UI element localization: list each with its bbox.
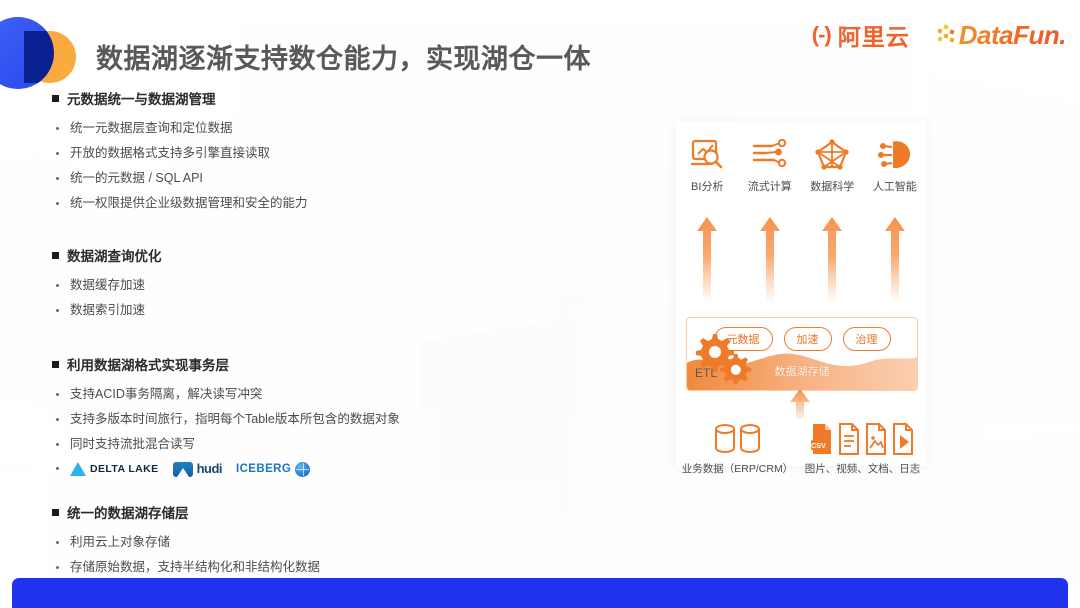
list-item: 数据缓存加速	[56, 274, 522, 296]
list-item: 统一的元数据 / SQL API	[56, 167, 522, 189]
list-item-text: 统一的元数据 / SQL API	[70, 167, 203, 189]
section-heading-text: 统一的数据湖存储层	[67, 502, 189, 522]
dot-bullet-icon	[56, 202, 59, 205]
source-icon-row: 业务数据（ERP/CRM） CSV	[676, 417, 926, 476]
list-item: 开放的数据格式支持多引擎直接读取	[56, 142, 522, 164]
section-heading-text: 数据湖查询优化	[67, 245, 162, 265]
up-arrow-icon	[804, 217, 860, 303]
list-item: 利用云上对象存储	[56, 531, 522, 553]
up-arrow-icon	[867, 217, 923, 303]
list-item: 存储原始数据，支持半结构化和非结构化数据	[56, 556, 522, 578]
section-heading-text: 利用数据湖格式实现事务层	[67, 354, 229, 374]
iceberg-globe-icon	[295, 462, 310, 477]
dot-bullet-icon	[56, 443, 59, 446]
consumer-ai-label: 人工智能	[867, 178, 923, 194]
dot-bullet-icon	[56, 284, 59, 287]
square-bullet-icon	[52, 509, 59, 516]
logo-circle-overlap	[24, 31, 54, 83]
list-item-text: 利用云上对象存储	[70, 531, 170, 553]
list-item: 统一元数据层查询和定位数据	[56, 117, 522, 139]
dot-bullet-icon	[56, 541, 59, 544]
delta-lake-label: DELTA LAKE	[90, 458, 159, 480]
list-item-text: 存储原始数据，支持半结构化和非结构化数据	[70, 556, 320, 578]
consumer-icon-row: BI分析 流式计算	[676, 137, 926, 194]
datafun-dots-icon	[938, 24, 958, 46]
source-unstructured-data: CSV	[805, 417, 921, 476]
csv-file-icon: CSV	[810, 423, 834, 455]
list-item-text: 统一元数据层查询和定位数据	[70, 117, 233, 139]
lake-format-logos: DELTA LAKE hudi ICEBERG	[70, 458, 310, 480]
database-cylinder-icon	[739, 423, 761, 455]
brand-row: (-) 阿里云 DataFun.	[812, 18, 1066, 52]
data-lake-storage-box: 元数据 加速 治理 ETL 数据湖存储	[686, 317, 918, 391]
document-file-icon	[837, 423, 861, 455]
consumer-stream-label: 流式计算	[742, 178, 798, 194]
source-business-data: 业务数据（ERP/CRM）	[682, 417, 793, 476]
consumer-bi: BI分析	[679, 137, 735, 194]
square-bullet-icon	[52, 361, 59, 368]
list-item-text: 统一权限提供企业级数据管理和安全的能力	[70, 192, 308, 214]
list-item: 同时支持流批混合读写	[56, 433, 522, 455]
dot-bullet-icon	[56, 467, 59, 470]
section-heading: 利用数据湖格式实现事务层	[52, 354, 522, 374]
architecture-diagram: BI分析 流式计算	[676, 121, 926, 466]
list-item: 支持ACID事务隔离，解决读写冲突	[56, 383, 522, 405]
list-item: 数据索引加速	[56, 299, 522, 321]
hudi-badge-icon	[173, 462, 193, 477]
hudi-label: hudi	[197, 458, 222, 480]
section-heading: 统一的数据湖存储层	[52, 502, 522, 522]
network-graph-icon	[804, 137, 860, 173]
consumer-datascience: 数据科学	[804, 137, 860, 194]
list-item-text: 支持ACID事务隔离，解决读写冲突	[70, 383, 262, 405]
source-unstructured-data-label: 图片、视频、文档、日志	[805, 461, 921, 476]
delta-lake-logo: DELTA LAKE	[70, 458, 159, 480]
database-cylinder-icon	[714, 423, 736, 455]
page-title: 数据湖逐渐支持数仓能力，实现湖仓一体	[96, 37, 591, 76]
list-item: 支持多版本时间旅行，指明每个Table版本所包含的数据对象	[56, 408, 522, 430]
up-arrow-icon	[679, 217, 735, 303]
aliyun-logo: (-) 阿里云	[812, 18, 910, 52]
up-arrow-icon	[742, 217, 798, 303]
square-bullet-icon	[52, 95, 59, 102]
hudi-logo: hudi	[173, 458, 222, 480]
bi-chart-icon	[679, 137, 735, 173]
section-metadata: 元数据统一与数据湖管理 统一元数据层查询和定位数据 开放的数据格式支持多引擎直接…	[52, 88, 522, 214]
list-item-text: 同时支持流批混合读写	[70, 433, 195, 455]
list-item: 统一权限提供企业级数据管理和安全的能力	[56, 192, 522, 214]
dot-bullet-icon	[56, 177, 59, 180]
list-item-text: 数据缓存加速	[70, 274, 145, 296]
consumer-datascience-label: 数据科学	[804, 178, 860, 194]
iceberg-label: ICEBERG	[236, 458, 291, 480]
ai-brain-icon	[867, 137, 923, 173]
dot-bullet-icon	[56, 418, 59, 421]
aliyun-mark-icon: (-)	[812, 22, 831, 48]
brand-circles-logo	[0, 17, 90, 89]
image-file-icon	[864, 423, 888, 455]
aliyun-label: 阿里云	[838, 18, 910, 52]
list-item-text: 支持多版本时间旅行，指明每个Table版本所包含的数据对象	[70, 408, 400, 430]
source-business-data-label: 业务数据（ERP/CRM）	[682, 461, 793, 476]
lake-storage-label: 数据湖存储	[687, 363, 917, 379]
upward-arrow-row	[676, 217, 926, 307]
square-bullet-icon	[52, 252, 59, 259]
content-column: 元数据统一与数据湖管理 统一元数据层查询和定位数据 开放的数据格式支持多引擎直接…	[52, 88, 522, 581]
dot-bullet-icon	[56, 152, 59, 155]
datafun-label: DataFun.	[959, 20, 1066, 51]
section-transaction-layer: 利用数据湖格式实现事务层 支持ACID事务隔离，解决读写冲突 支持多版本时间旅行…	[52, 354, 522, 480]
dot-bullet-icon	[56, 127, 59, 130]
delta-triangle-icon	[70, 462, 86, 476]
pill-governance[interactable]: 治理	[843, 327, 891, 351]
consumer-bi-label: BI分析	[679, 178, 735, 194]
list-item-text: 数据索引加速	[70, 299, 145, 321]
bottom-accent-bar	[12, 578, 1068, 608]
dot-bullet-icon	[56, 393, 59, 396]
stream-nodes-icon	[742, 137, 798, 173]
section-heading-text: 元数据统一与数据湖管理	[67, 88, 216, 108]
database-cylinders	[682, 417, 793, 455]
section-query-optimization: 数据湖查询优化 数据缓存加速 数据索引加速	[52, 245, 522, 321]
section-heading: 数据湖查询优化	[52, 245, 522, 265]
ingest-arrow-icon	[788, 389, 812, 419]
video-file-icon	[891, 423, 915, 455]
pill-acceleration[interactable]: 加速	[784, 327, 832, 351]
datafun-logo: DataFun.	[938, 20, 1066, 51]
dot-bullet-icon	[56, 566, 59, 569]
list-item-text: 开放的数据格式支持多引擎直接读取	[70, 142, 270, 164]
svg-text:CSV: CSV	[811, 441, 826, 450]
section-storage-layer: 统一的数据湖存储层 利用云上对象存储 存储原始数据，支持半结构化和非结构化数据	[52, 502, 522, 578]
list-item-logos: DELTA LAKE hudi ICEBERG	[56, 458, 522, 480]
slide-canvas: 数据湖逐渐支持数仓能力，实现湖仓一体 (-) 阿里云 DataFun. 元数据统…	[0, 0, 1080, 608]
section-heading: 元数据统一与数据湖管理	[52, 88, 522, 108]
file-type-icons: CSV	[805, 417, 921, 455]
consumer-ai: 人工智能	[867, 137, 923, 194]
iceberg-logo: ICEBERG	[236, 458, 310, 480]
dot-bullet-icon	[56, 309, 59, 312]
consumer-stream: 流式计算	[742, 137, 798, 194]
